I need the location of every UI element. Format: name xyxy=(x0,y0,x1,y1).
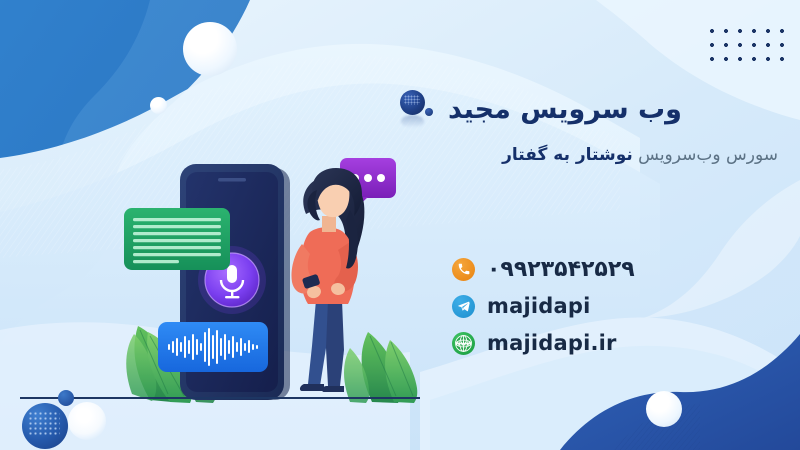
voice-waveform-bubble xyxy=(158,322,268,372)
title-row: وب سرویس مجید xyxy=(398,88,778,132)
decor-small-ball xyxy=(58,390,74,406)
page-title: وب سرویس مجید xyxy=(448,94,682,126)
contact-row-phone[interactable]: ۰۹۹۲۳۵۴۲۵۲۹ xyxy=(452,252,635,286)
decor-horizontal-line xyxy=(20,397,420,399)
decor-sphere-large xyxy=(183,22,237,76)
decor-dotted-ball xyxy=(22,403,68,449)
svg-text:WWW: WWW xyxy=(455,341,473,347)
brand-text-block: وب سرویس مجید سورس وب‌سرویس نوشتار به گف… xyxy=(398,88,778,166)
promo-banner: وب سرویس مجید سورس وب‌سرویس نوشتار به گف… xyxy=(0,0,800,450)
contact-list: ۰۹۹۲۳۵۴۲۵۲۹ majidapi xyxy=(452,252,635,363)
page-subtitle: سورس وب‌سرویس نوشتار به گفتار xyxy=(398,144,778,166)
decor-sphere-small xyxy=(150,97,167,114)
subtitle-prefix: سورس وب‌سرویس xyxy=(633,145,778,165)
phone-icon xyxy=(452,258,475,281)
voice-assistant-illustration xyxy=(110,150,440,410)
telegram-icon xyxy=(452,295,475,318)
subtitle-highlight: نوشتار به گفتار xyxy=(502,145,633,165)
contact-row-telegram[interactable]: majidapi xyxy=(452,289,635,323)
decor-sphere-bottom-right xyxy=(646,391,682,427)
globe-icon: WWW xyxy=(452,332,475,355)
contact-website-value: majidapi.ir xyxy=(487,331,617,355)
contact-phone-value: ۰۹۹۲۳۵۴۲۵۲۹ xyxy=(487,257,635,282)
contact-telegram-value: majidapi xyxy=(487,294,590,318)
dot-grid-icon xyxy=(703,22,787,70)
contact-row-website[interactable]: WWW majidapi.ir xyxy=(452,326,635,360)
dotted-sphere-logo-icon xyxy=(398,88,438,132)
decor-glow-circle xyxy=(68,402,106,440)
chat-text-bubble xyxy=(124,208,230,270)
